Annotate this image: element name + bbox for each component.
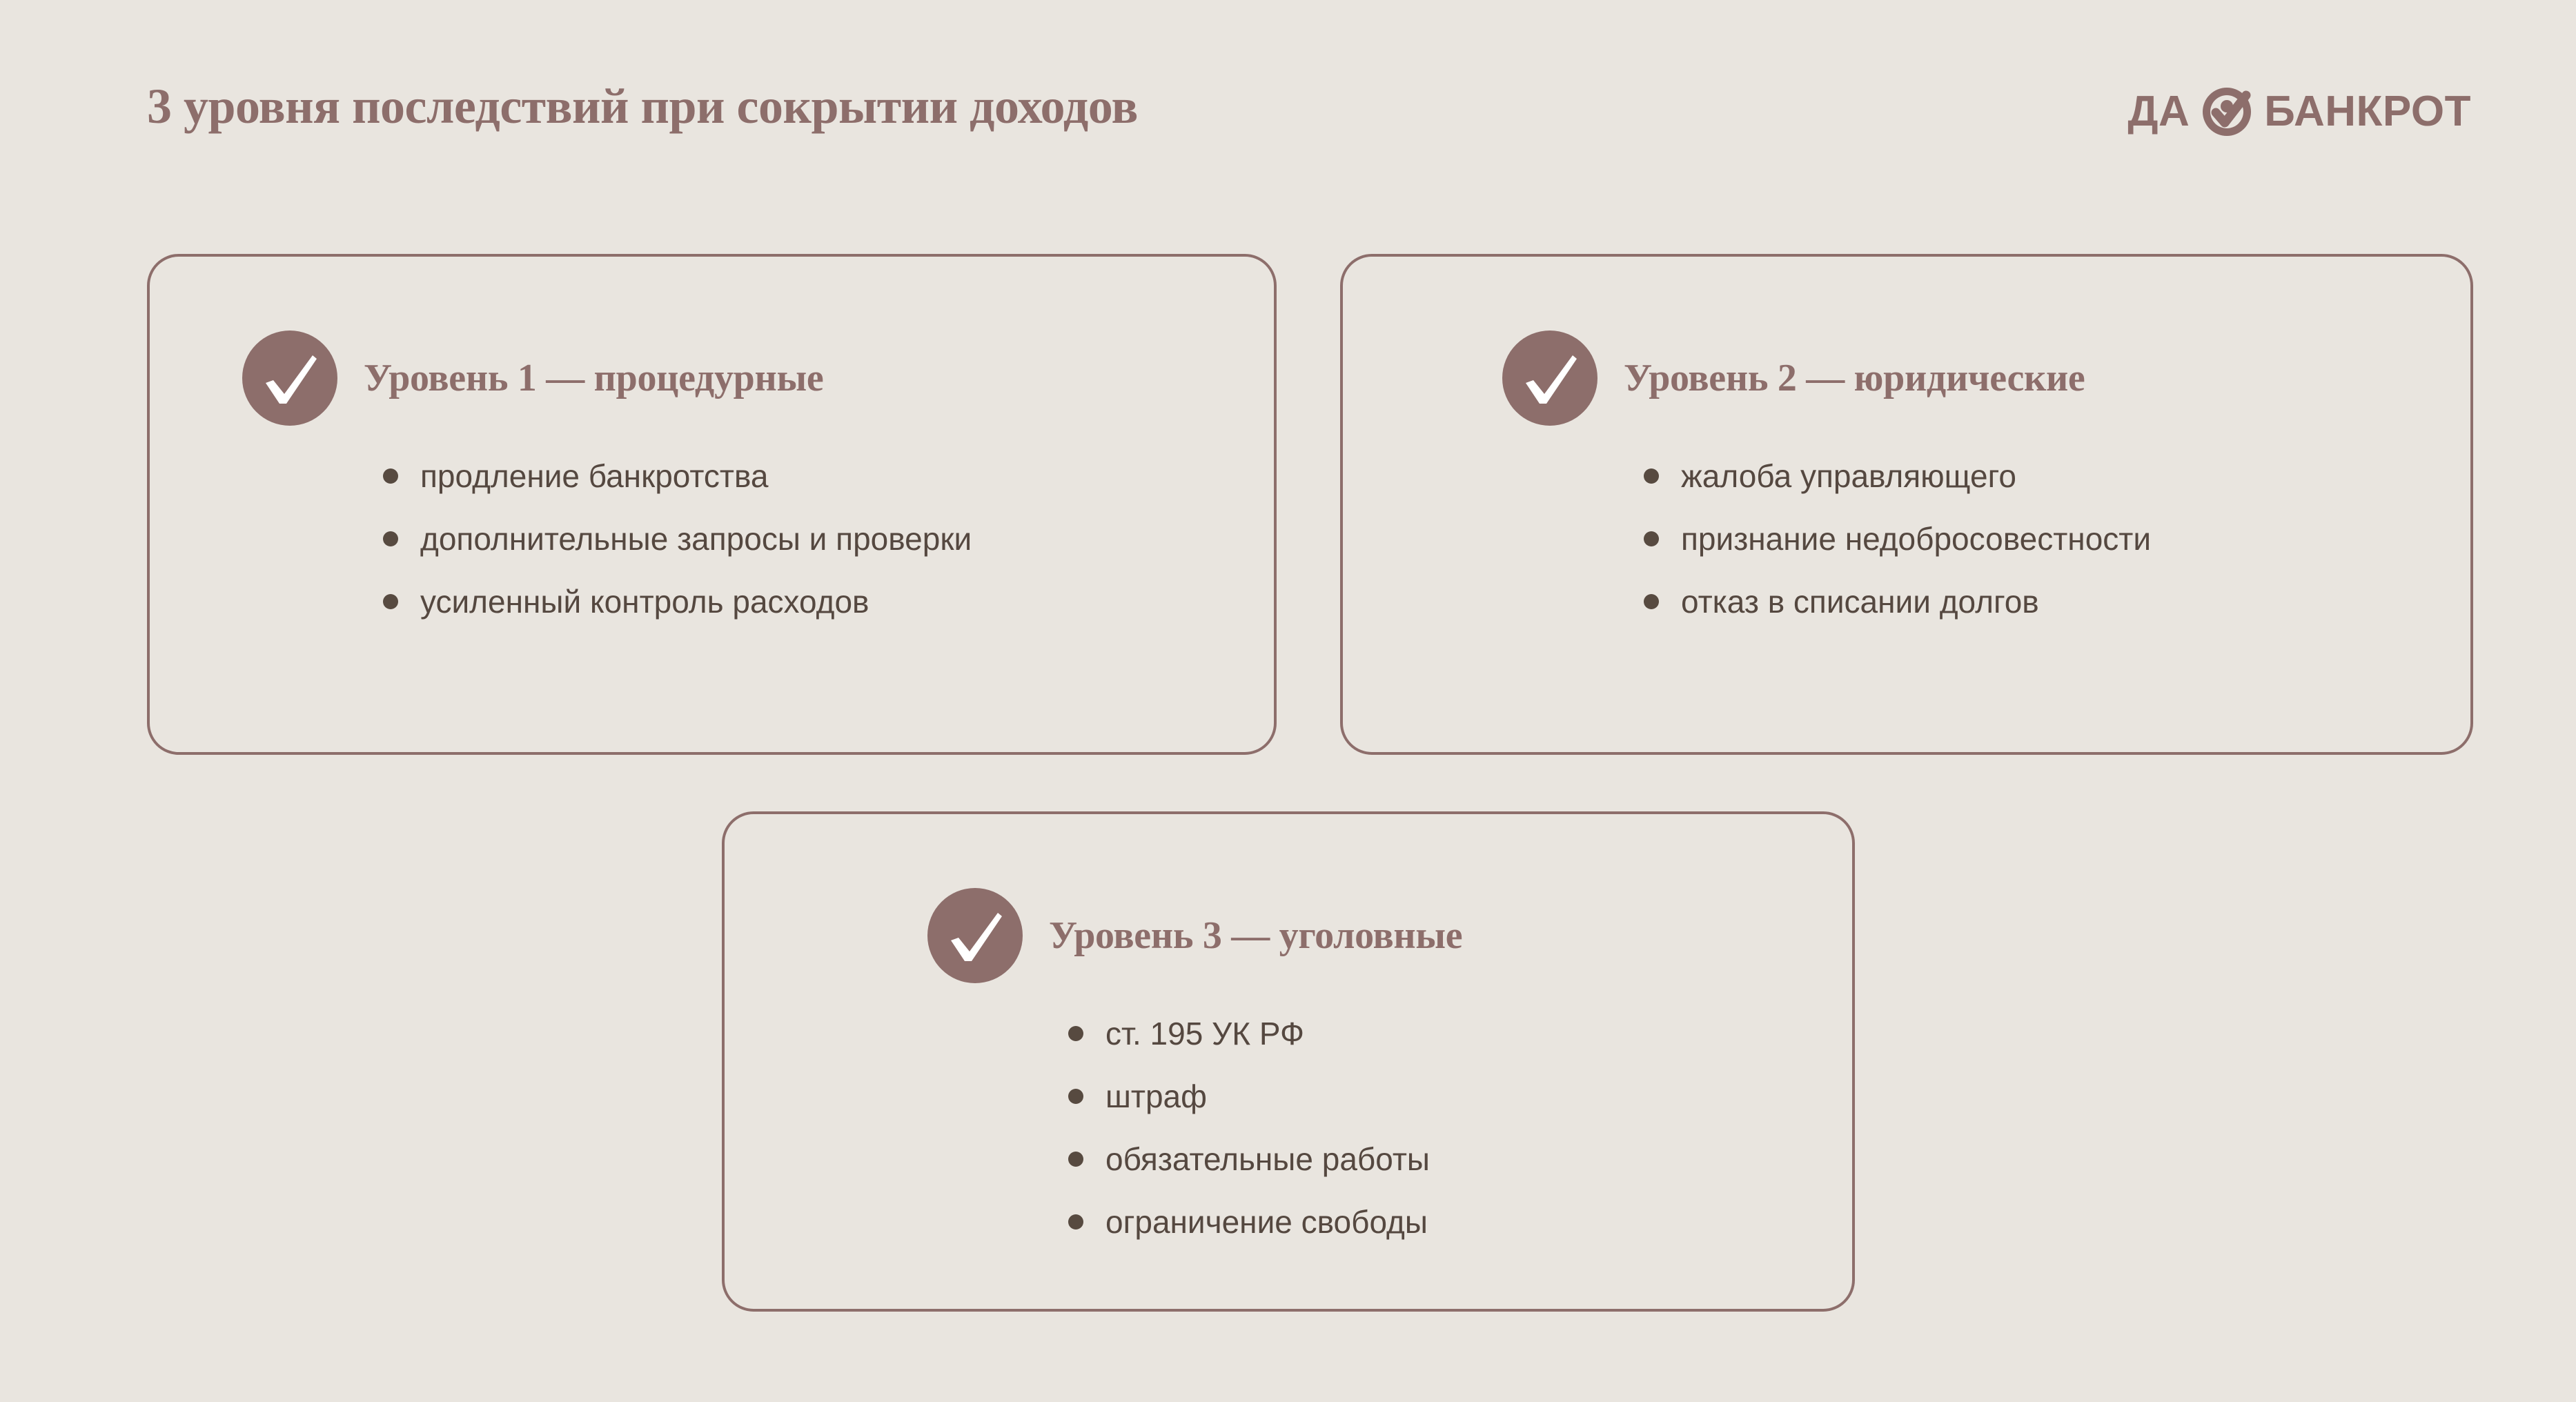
- list-item-label: дополнительные запросы и проверки: [420, 521, 972, 557]
- check-icon: [927, 888, 1023, 983]
- card-header-2: Уровень 2 — юридические: [1502, 330, 2085, 426]
- logo-word-right: БАНКРОТ: [2264, 90, 2471, 133]
- brand-logo[interactable]: ДА БАНКРОТ: [2127, 83, 2471, 141]
- list-item-label: признание недобросовестности: [1681, 521, 2151, 557]
- check-icon: [1502, 330, 1597, 426]
- page-title: 3 уровня последствий при сокрытии доходо…: [147, 81, 1138, 131]
- bullet-dot-icon: [1068, 1214, 1083, 1230]
- bullet-dot-icon: [1068, 1026, 1083, 1041]
- list-item-label: продление банкротства: [420, 458, 768, 494]
- list-item: усиленный контроль расходов: [377, 586, 972, 618]
- list-item-label: ст. 195 УК РФ: [1105, 1016, 1304, 1051]
- card-title-1: Уровень 1 — процедурные: [364, 359, 823, 397]
- bullet-dot-icon: [1644, 468, 1659, 484]
- list-item: жалоба управляющего: [1638, 460, 2151, 492]
- card-header-1: Уровень 1 — процедурные: [242, 330, 823, 426]
- list-item: ограничение свободы: [1063, 1206, 1430, 1238]
- list-item-label: жалоба управляющего: [1681, 458, 2016, 494]
- bullet-dot-icon: [1644, 531, 1659, 546]
- level-card-2: Уровень 2 — юридические жалоба управляющ…: [1340, 254, 2473, 755]
- card-bullet-list-1: продление банкротства дополнительные зап…: [377, 460, 972, 618]
- list-item: отказ в списании долгов: [1638, 586, 2151, 618]
- list-item: дополнительные запросы и проверки: [377, 523, 972, 555]
- circle-check-icon: [2199, 84, 2254, 139]
- bullet-dot-icon: [1068, 1152, 1083, 1167]
- check-icon: [242, 330, 337, 426]
- card-bullet-list-2: жалоба управляющего признание недобросов…: [1638, 460, 2151, 618]
- card-bullet-list-3: ст. 195 УК РФ штраф обязательные работы …: [1063, 1018, 1430, 1238]
- card-title-3: Уровень 3 — уголовные: [1049, 916, 1462, 955]
- list-item-label: ограничение свободы: [1105, 1204, 1428, 1240]
- bullet-dot-icon: [383, 531, 398, 546]
- list-item: штраф: [1063, 1080, 1430, 1112]
- level-card-1: Уровень 1 — процедурные продление банкро…: [147, 254, 1277, 755]
- list-item-label: штраф: [1105, 1078, 1207, 1114]
- list-item: продление банкротства: [377, 460, 972, 492]
- page-header: 3 уровня последствий при сокрытии доходо…: [0, 0, 2576, 228]
- list-item-label: отказ в списании долгов: [1681, 584, 2039, 620]
- level-card-3: Уровень 3 — уголовные ст. 195 УК РФ штра…: [722, 811, 1855, 1312]
- list-item: ст. 195 УК РФ: [1063, 1018, 1430, 1049]
- bullet-dot-icon: [1644, 594, 1659, 609]
- list-item-label: обязательные работы: [1105, 1141, 1430, 1177]
- logo-word-left: ДА: [2127, 90, 2190, 133]
- bullet-dot-icon: [383, 594, 398, 609]
- bullet-dot-icon: [383, 468, 398, 484]
- card-title-2: Уровень 2 — юридические: [1624, 359, 2085, 397]
- list-item: признание недобросовестности: [1638, 523, 2151, 555]
- card-header-3: Уровень 3 — уголовные: [927, 888, 1462, 983]
- bullet-dot-icon: [1068, 1089, 1083, 1104]
- list-item: обязательные работы: [1063, 1143, 1430, 1175]
- list-item-label: усиленный контроль расходов: [420, 584, 869, 620]
